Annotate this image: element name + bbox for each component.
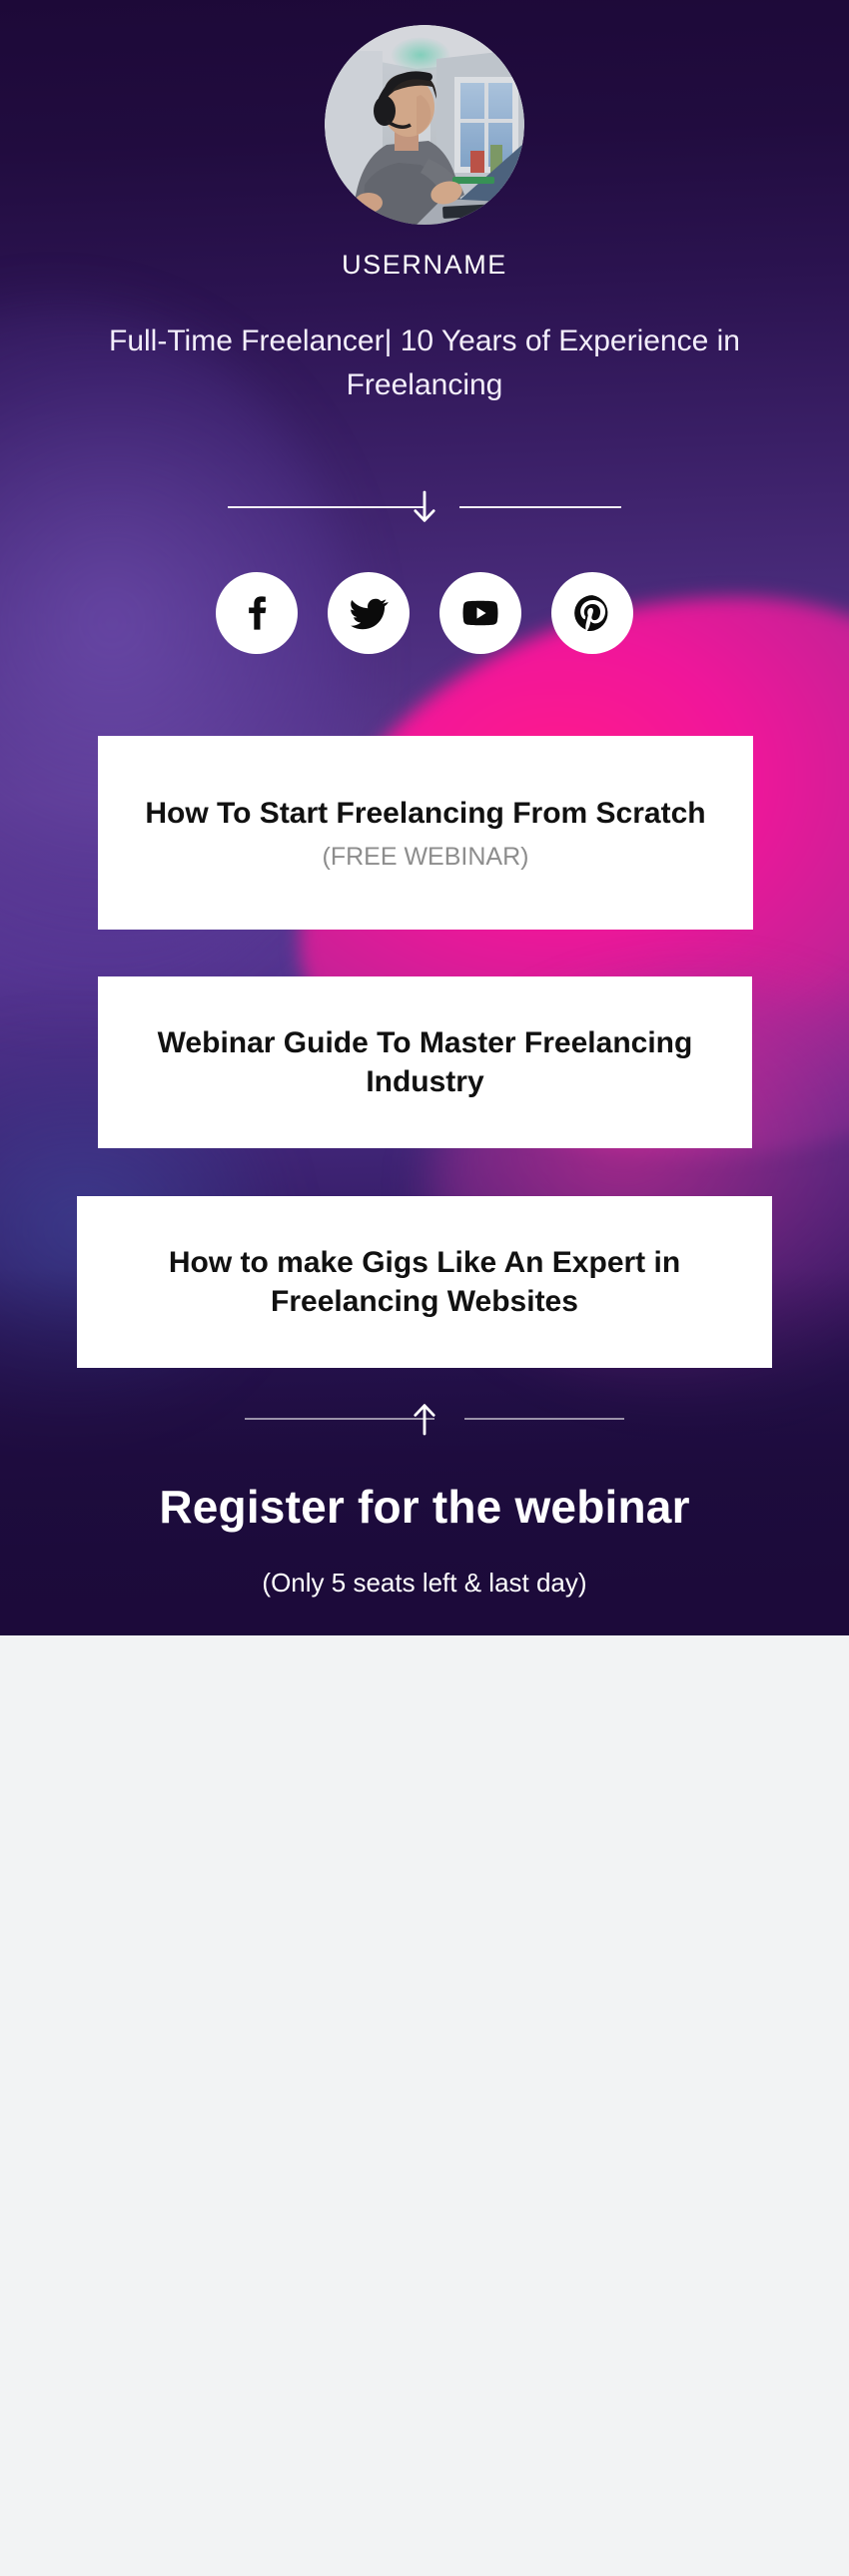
social-link-youtube[interactable] [439, 572, 521, 654]
arrow-up-icon [405, 1399, 444, 1439]
divider-line-left [228, 506, 424, 508]
link-card-title: Webinar Guide To Master Freelancing Indu… [124, 1023, 726, 1101]
profile-bio: Full-Time Freelancer| 10 Years of Experi… [105, 320, 744, 407]
link-card-title: How To Start Freelancing From Scratch [145, 794, 705, 833]
registration-form-section: First Name Email Address Submit [0, 1635, 849, 2576]
youtube-icon [459, 592, 501, 634]
avatar [325, 25, 524, 225]
twitter-icon [348, 592, 390, 634]
hero-section: USERNAME Full-Time Freelancer| 10 Years … [0, 0, 849, 1635]
page-title: USERNAME [0, 250, 849, 281]
social-links-row [0, 572, 849, 654]
link-card[interactable]: How To Start Freelancing From Scratch (F… [98, 736, 753, 930]
link-card-title: How to make Gigs Like An Expert in Freel… [103, 1243, 746, 1321]
register-heading: Register for the webinar [0, 1480, 849, 1534]
divider-arrow-down-top [0, 487, 849, 527]
arrow-down-icon [405, 487, 444, 527]
divider-arrow-up [0, 1399, 849, 1439]
social-link-twitter[interactable] [328, 572, 410, 654]
social-link-pinterest[interactable] [551, 572, 633, 654]
social-link-facebook[interactable] [216, 572, 298, 654]
link-in-bio-page: USERNAME Full-Time Freelancer| 10 Years … [0, 0, 849, 2576]
link-card[interactable]: Webinar Guide To Master Freelancing Indu… [98, 976, 752, 1148]
pinterest-icon [571, 592, 613, 634]
facebook-icon [237, 593, 277, 633]
divider-line-right [459, 506, 621, 508]
link-card[interactable]: How to make Gigs Like An Expert in Freel… [77, 1196, 772, 1368]
divider-line-right [464, 1418, 624, 1420]
link-card-subtitle: (FREE WEBINAR) [323, 843, 529, 872]
seats-note: (Only 5 seats left & last day) [0, 1568, 849, 1599]
